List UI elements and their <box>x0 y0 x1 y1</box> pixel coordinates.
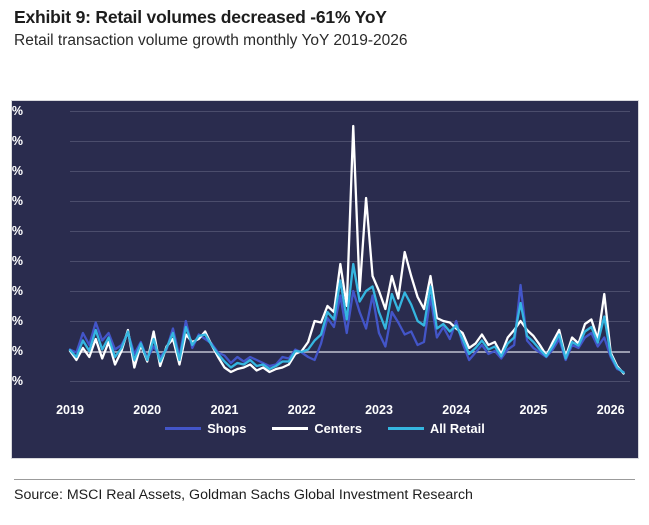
series-line-centers <box>70 126 624 374</box>
y-axis-tick-label: 700% <box>0 134 23 148</box>
legend-item-shops[interactable]: Shops <box>165 421 246 436</box>
y-axis-tick-label: 100% <box>0 314 23 328</box>
legend-item-centers[interactable]: Centers <box>272 421 362 436</box>
x-axis-tick-label: 2024 <box>442 403 470 417</box>
figure-header: Exhibit 9: Retail volumes decreased -61%… <box>14 6 639 51</box>
legend-label: Shops <box>207 421 246 436</box>
legend-label: Centers <box>314 421 362 436</box>
x-axis-tick-label: 2020 <box>133 403 161 417</box>
y-axis-tick-label: -100% <box>0 374 23 388</box>
page-title: Exhibit 9: Retail volumes decreased -61%… <box>14 6 639 29</box>
legend-label: All Retail <box>430 421 485 436</box>
y-axis-tick-label: 0% <box>5 344 23 358</box>
x-axis-tick-label: 2025 <box>519 403 547 417</box>
x-axis-tick-label: 2019 <box>56 403 84 417</box>
figure-subtitle: Retail transaction volume growth monthly… <box>14 30 639 51</box>
source-divider <box>14 479 635 480</box>
x-axis-tick-label: 2023 <box>365 403 393 417</box>
legend-swatch <box>272 427 308 430</box>
y-axis-tick-label: 200% <box>0 284 23 298</box>
chart-legend: ShopsCentersAll Retail <box>12 421 638 436</box>
chart-panel: 800%700%600%500%400%300%200%100%0%-100% … <box>12 101 638 458</box>
y-axis-tick-label: 600% <box>0 164 23 178</box>
y-axis-tick-label: 300% <box>0 254 23 268</box>
y-axis-tick-label: 500% <box>0 194 23 208</box>
legend-swatch <box>388 427 424 430</box>
y-axis-tick-label: 400% <box>0 224 23 238</box>
y-axis-tick-label: 800% <box>0 104 23 118</box>
x-axis-tick-label: 2026 <box>597 403 625 417</box>
legend-item-all-retail[interactable]: All Retail <box>388 421 485 436</box>
x-axis-tick-label: 2022 <box>288 403 316 417</box>
source-note: Source: MSCI Real Assets, Goldman Sachs … <box>14 487 473 503</box>
series-lines <box>70 111 630 387</box>
plot-area: 800%700%600%500%400%300%200%100%0%-100% … <box>70 111 630 381</box>
legend-swatch <box>165 427 201 430</box>
x-axis-tick-label: 2021 <box>211 403 239 417</box>
chart-figure: Exhibit 9: Retail volumes decreased -61%… <box>0 0 649 525</box>
